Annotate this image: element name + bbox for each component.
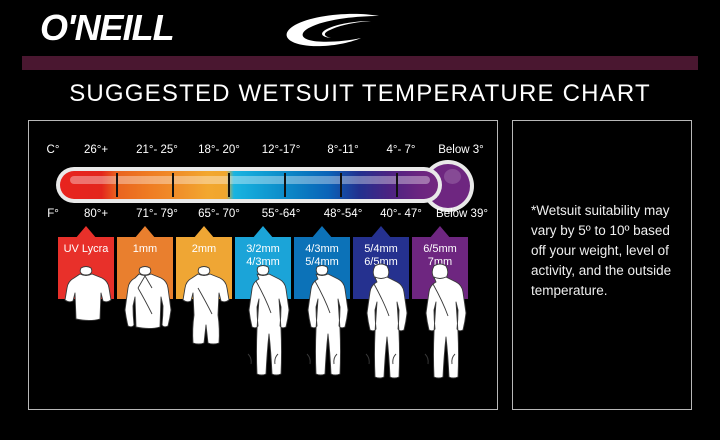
- disclaimer-text: *Wetsuit suitability may vary by 5º to 1…: [531, 201, 679, 301]
- suit-figure-3: [235, 262, 291, 392]
- suit-figure-2: [176, 262, 232, 392]
- fahrenheit-value-0: 80°+: [68, 208, 124, 220]
- fahrenheit-value-4: 48°-54°: [314, 208, 372, 220]
- thermometer-bulb-highlight: [444, 169, 461, 184]
- thermometer-tick-5: [340, 173, 342, 197]
- celsius-value-1: 21°- 25°: [126, 144, 188, 156]
- fahrenheit-value-6: Below 39°: [430, 208, 494, 220]
- celsius-value-2: 18°- 20°: [188, 144, 250, 156]
- title-bar: SUGGESTED WETSUIT TEMPERATURE CHART: [22, 70, 698, 118]
- fahrenheit-value-2: 65°- 70°: [188, 208, 250, 220]
- suit-figure-6: [412, 262, 468, 392]
- celsius-value-6: Below 3°: [430, 144, 492, 156]
- wetsuit-temperature-chart: O'NEILL SUGGESTED WETSUIT TEMPERATURE CH…: [0, 0, 720, 440]
- wetsuit-columns: UV Lycra 1mm: [56, 226, 476, 396]
- fahrenheit-scale-row: F° 80°+ 71°- 79° 65°- 70° 55°-64° 48°-54…: [38, 208, 490, 224]
- thermometer-tick-1: [116, 173, 118, 197]
- thermometer-tick-6: [396, 173, 398, 197]
- suit-figure-0: [58, 262, 114, 392]
- celsius-value-0: 26°+: [68, 144, 124, 156]
- suit-figure-5: [353, 262, 409, 392]
- thermometer-casing: [56, 167, 442, 203]
- fahrenheit-unit-label: F°: [38, 208, 68, 220]
- celsius-value-4: 8°-11°: [314, 144, 372, 156]
- disclaimer-panel: *Wetsuit suitability may vary by 5º to 1…: [512, 120, 692, 410]
- celsius-unit-label: C°: [38, 144, 68, 156]
- brand-accent-band: [22, 56, 698, 70]
- celsius-value-5: 4°- 7°: [372, 144, 430, 156]
- fahrenheit-value-5: 40°- 47°: [372, 208, 430, 220]
- fahrenheit-value-1: 71°- 79°: [126, 208, 188, 220]
- thermometer-tick-3: [228, 173, 230, 197]
- thermometer-tick-2: [172, 173, 174, 197]
- suit-figure-4: [294, 262, 350, 392]
- fahrenheit-value-3: 55°-64°: [250, 208, 312, 220]
- oneill-wordmark: O'NEILL: [40, 10, 174, 46]
- page-title: SUGGESTED WETSUIT TEMPERATURE CHART: [22, 80, 698, 108]
- celsius-value-3: 12°-17°: [250, 144, 312, 156]
- suit-figure-1: [117, 262, 173, 392]
- celsius-scale-row: C° 26°+ 21°- 25° 18°- 20° 12°-17° 8°-11°…: [38, 144, 490, 160]
- brand-header: O'NEILL: [0, 0, 720, 56]
- thermometer-gloss: [70, 176, 430, 184]
- thermometer-tick-4: [284, 173, 286, 197]
- oneill-wave-icon: [283, 12, 383, 48]
- thermometer-gauge: [56, 164, 476, 206]
